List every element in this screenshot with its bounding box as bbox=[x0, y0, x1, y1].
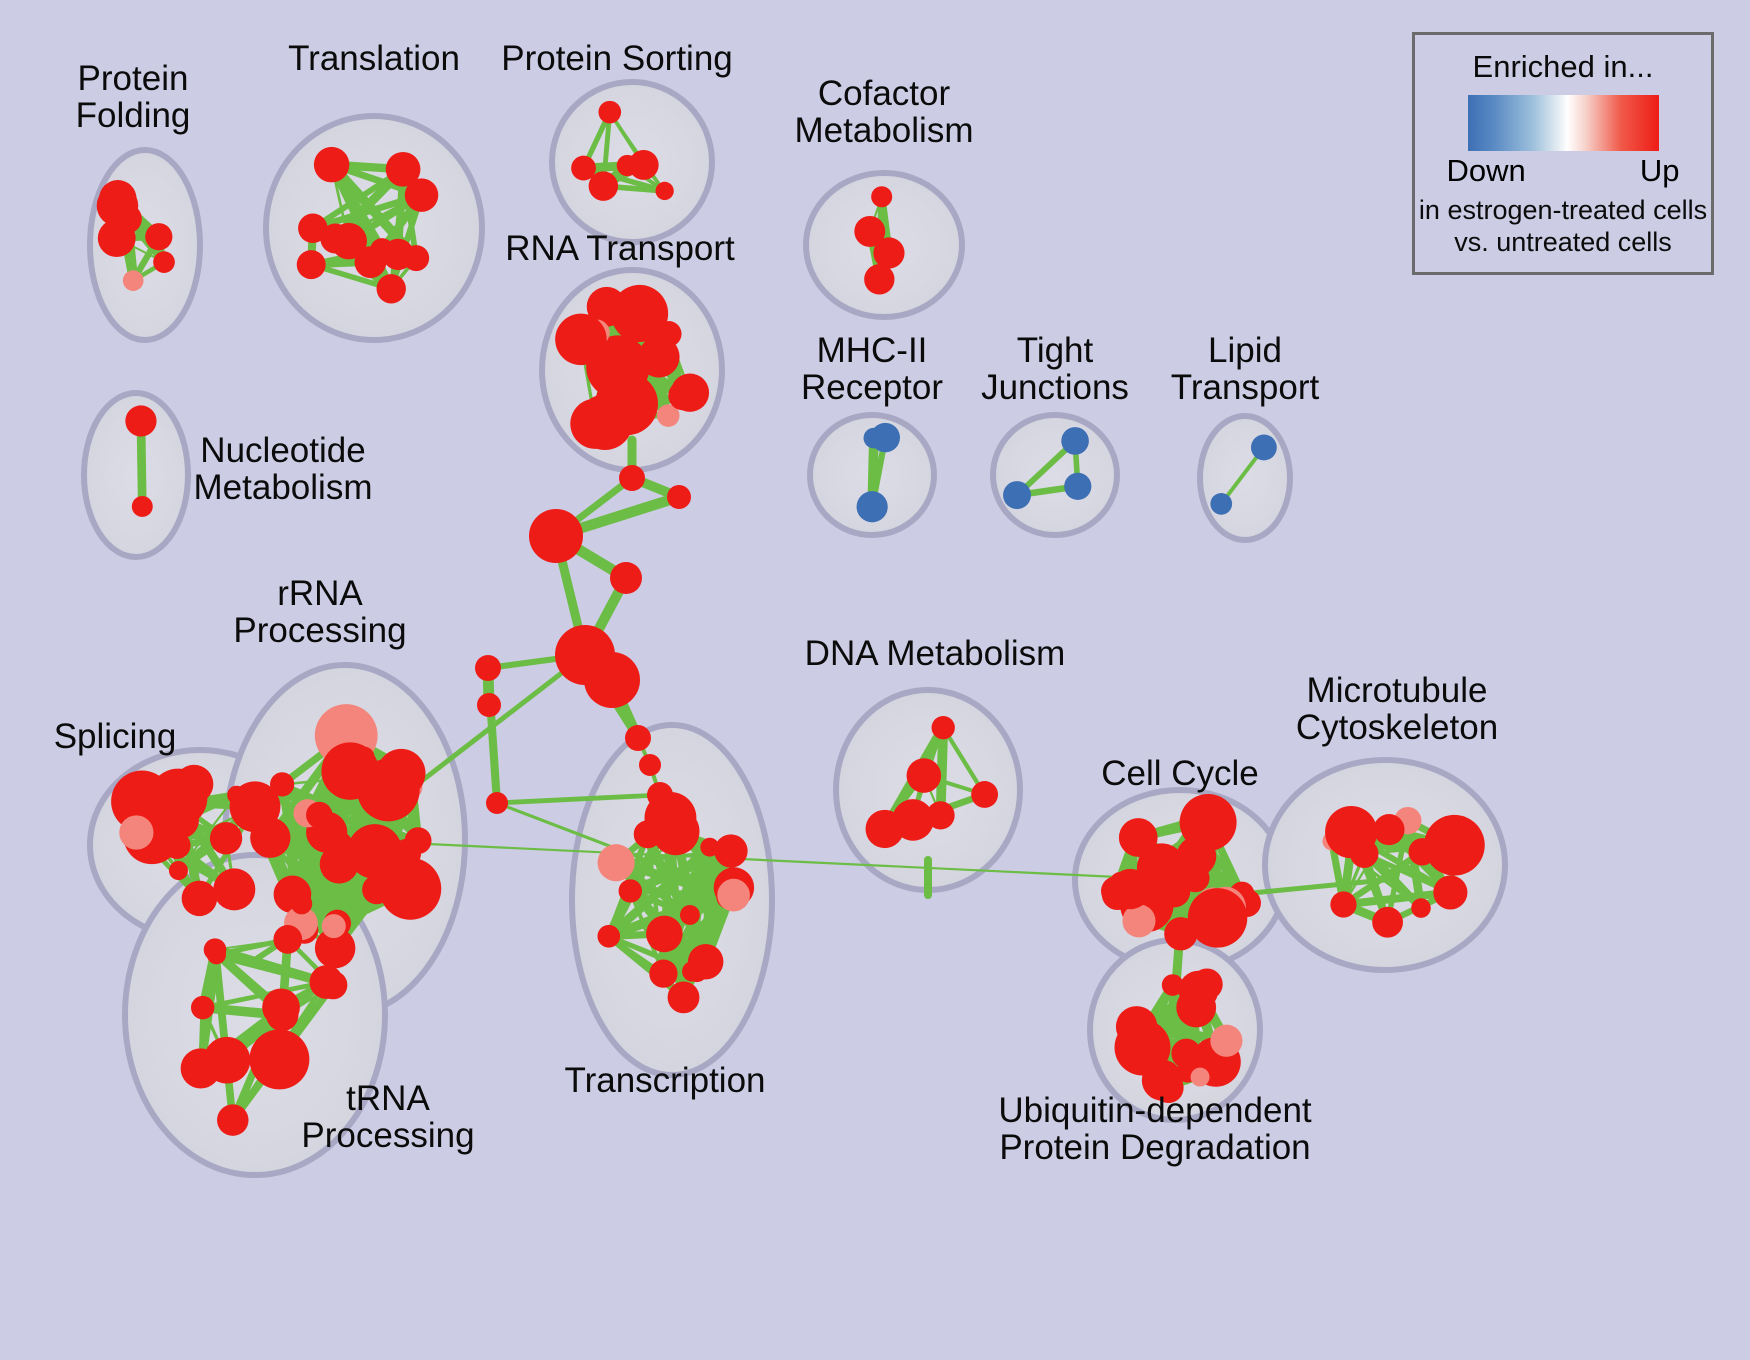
network-node bbox=[892, 799, 934, 841]
network-node bbox=[1372, 907, 1403, 938]
network-node bbox=[132, 496, 153, 517]
network-node bbox=[597, 925, 620, 948]
network-node bbox=[646, 916, 683, 953]
network-node bbox=[204, 1037, 251, 1084]
network-node bbox=[932, 716, 955, 739]
network-node bbox=[619, 465, 645, 491]
network-node bbox=[1210, 1025, 1242, 1057]
network-node bbox=[611, 285, 668, 342]
network-node bbox=[1330, 891, 1356, 917]
network-node bbox=[270, 772, 294, 796]
network-node bbox=[145, 223, 172, 250]
enrichment-network-figure: Protein FoldingTranslationProtein Sortin… bbox=[0, 0, 1750, 1360]
legend-subtitle-line2: vs. untreated cells bbox=[1415, 227, 1711, 257]
network-node bbox=[486, 792, 508, 814]
network-node bbox=[656, 182, 674, 200]
network-node bbox=[213, 868, 255, 910]
network-node bbox=[323, 831, 353, 861]
network-node bbox=[477, 693, 501, 717]
network-node bbox=[1251, 435, 1277, 461]
network-node bbox=[204, 938, 227, 961]
network-node bbox=[1424, 815, 1485, 876]
network-node bbox=[1101, 876, 1131, 906]
network-node bbox=[667, 485, 691, 509]
network-node bbox=[668, 381, 698, 411]
network-node bbox=[273, 925, 302, 954]
network-node bbox=[377, 274, 406, 303]
network-node bbox=[1122, 904, 1155, 937]
network-node bbox=[125, 405, 156, 436]
network-node bbox=[871, 186, 892, 207]
network-node bbox=[1171, 1039, 1201, 1069]
network-node bbox=[625, 725, 651, 751]
cluster-ellipse-tight-junctions bbox=[993, 415, 1117, 535]
network-node bbox=[668, 981, 700, 1013]
network-node bbox=[1325, 806, 1377, 858]
network-node bbox=[310, 965, 344, 999]
network-node bbox=[1411, 898, 1431, 918]
network-node bbox=[1373, 814, 1404, 845]
network-node bbox=[191, 996, 214, 1019]
network-node bbox=[864, 428, 885, 449]
network-node bbox=[371, 781, 394, 804]
network-node bbox=[688, 944, 724, 980]
network-node bbox=[382, 239, 413, 270]
network-node bbox=[123, 270, 144, 291]
network-node bbox=[322, 914, 346, 938]
network-node bbox=[314, 147, 349, 182]
network-node bbox=[589, 171, 618, 200]
network-node bbox=[610, 562, 642, 594]
network-node bbox=[584, 652, 640, 708]
network-node bbox=[386, 152, 421, 187]
network-node bbox=[1210, 493, 1232, 515]
network-node bbox=[291, 893, 312, 914]
network-node bbox=[1153, 1073, 1183, 1103]
network-node bbox=[149, 769, 207, 827]
network-node bbox=[1061, 427, 1089, 455]
network-node bbox=[971, 781, 998, 808]
network-node bbox=[298, 214, 328, 244]
network-node bbox=[297, 250, 326, 279]
network-node bbox=[255, 832, 280, 857]
network-node bbox=[1119, 823, 1151, 855]
network-node bbox=[639, 754, 661, 776]
network-node bbox=[680, 905, 700, 925]
legend-subtitle-line1: in estrogen-treated cells bbox=[1415, 195, 1711, 225]
network-node bbox=[529, 509, 583, 563]
network-node bbox=[857, 491, 888, 522]
network-node bbox=[475, 655, 501, 681]
network-node bbox=[1003, 481, 1031, 509]
network-node bbox=[182, 881, 217, 916]
network-node bbox=[873, 237, 904, 268]
network-node bbox=[629, 150, 659, 180]
legend-title: Enriched in... bbox=[1415, 49, 1711, 85]
network-node bbox=[227, 786, 246, 805]
network-node bbox=[1433, 875, 1467, 909]
network-node bbox=[217, 1104, 249, 1136]
network-node bbox=[907, 758, 942, 793]
network-node bbox=[405, 827, 432, 854]
legend-up-label: Up bbox=[1640, 153, 1680, 189]
legend-down-label: Down bbox=[1447, 153, 1526, 189]
network-node bbox=[1191, 1068, 1210, 1087]
network-node bbox=[266, 999, 298, 1031]
network-node bbox=[647, 782, 673, 808]
network-node bbox=[210, 822, 242, 854]
network-node bbox=[717, 879, 750, 912]
network-node bbox=[1188, 888, 1248, 948]
network-node bbox=[1180, 794, 1237, 851]
network-node bbox=[379, 858, 441, 920]
network-node bbox=[1125, 1044, 1147, 1066]
network-node bbox=[570, 399, 620, 449]
network-node bbox=[355, 246, 387, 278]
network-node bbox=[598, 844, 635, 881]
network-node bbox=[112, 204, 141, 233]
network-node bbox=[249, 1029, 309, 1089]
legend-endpoints: Down Up bbox=[1447, 153, 1680, 193]
network-node bbox=[1064, 473, 1091, 500]
network-node bbox=[649, 959, 677, 987]
network-node bbox=[619, 879, 642, 902]
cluster-ellipse-lipid-transport bbox=[1200, 416, 1290, 540]
network-node bbox=[119, 815, 153, 849]
network-node bbox=[714, 834, 747, 867]
network-node bbox=[864, 264, 894, 294]
legend-panel: Enriched in... Down Up in estrogen-treat… bbox=[1412, 32, 1714, 275]
network-node bbox=[1141, 874, 1176, 909]
network-node bbox=[306, 802, 332, 828]
network-node bbox=[354, 747, 375, 768]
network-node bbox=[169, 861, 188, 880]
network-node bbox=[1191, 968, 1223, 1000]
network-node bbox=[153, 251, 175, 273]
network-node bbox=[598, 101, 621, 124]
color-gradient-bar bbox=[1468, 95, 1659, 151]
network-node bbox=[555, 314, 606, 365]
network-node bbox=[1162, 974, 1184, 996]
